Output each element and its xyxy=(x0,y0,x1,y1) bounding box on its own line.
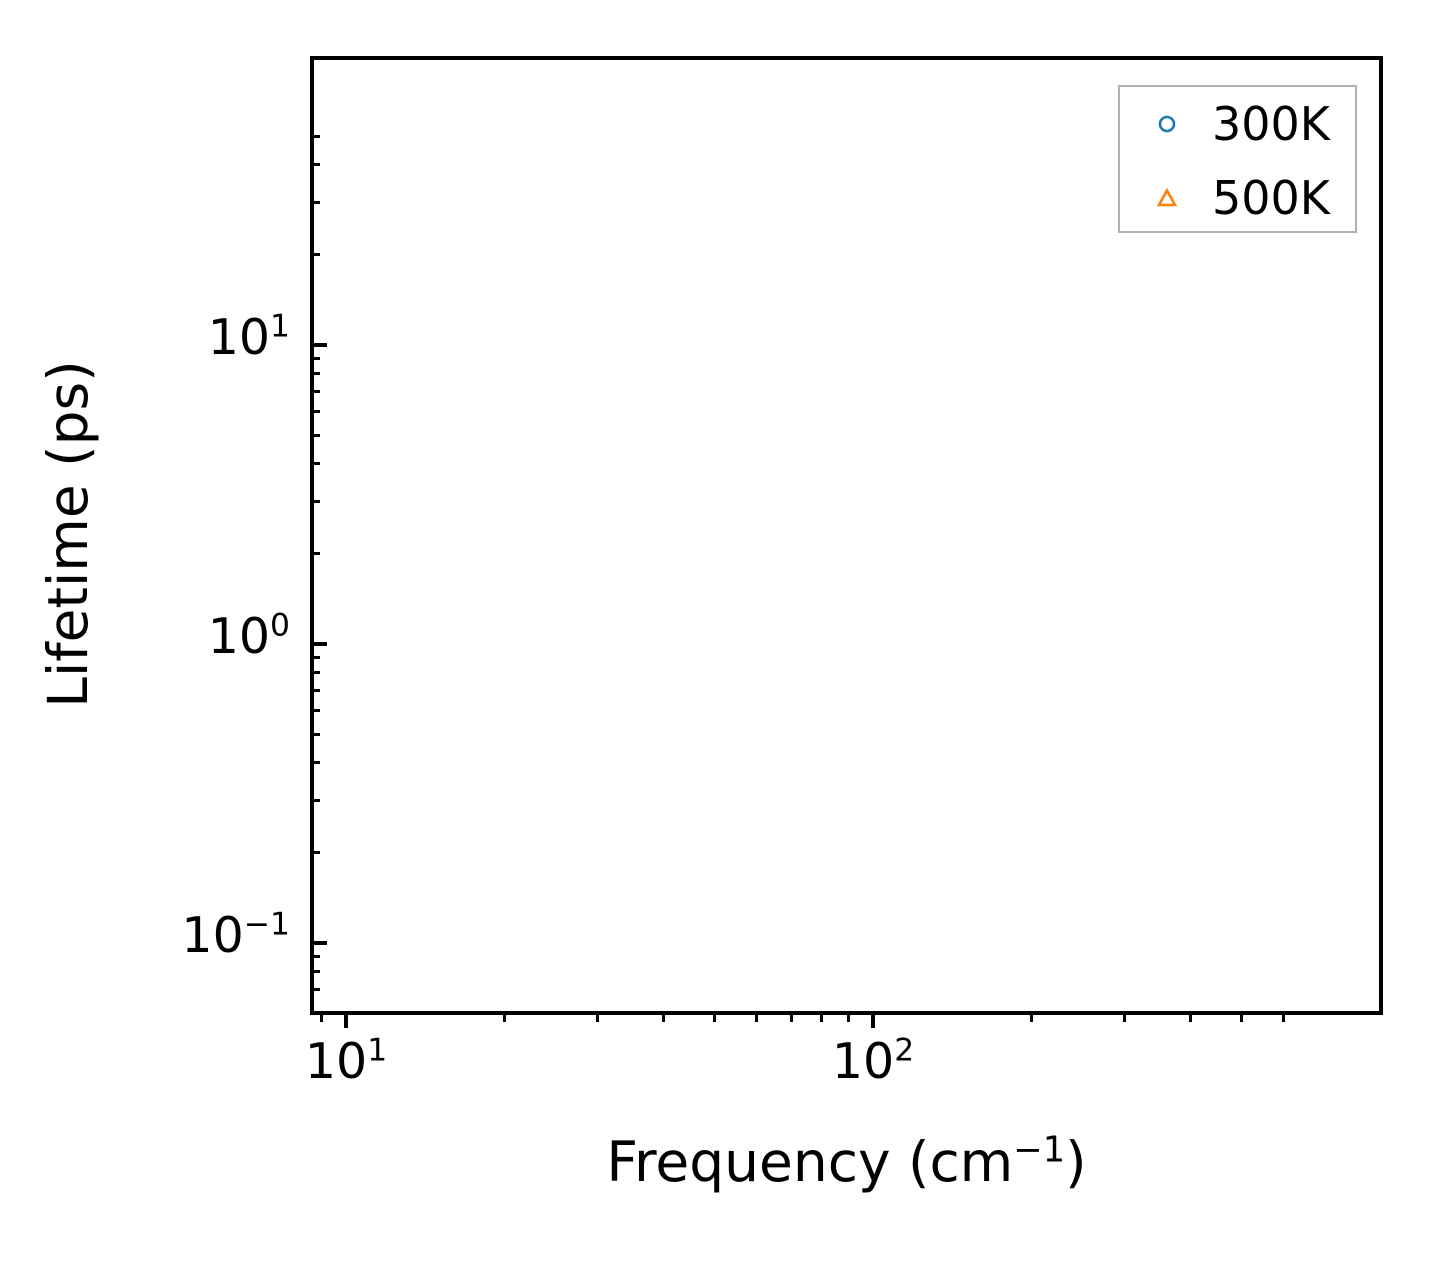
x-axis-title-exponent: −1 xyxy=(1013,1130,1065,1171)
y-tick-exponent: −1 xyxy=(244,907,290,943)
x-tick-mantissa: 10 xyxy=(832,1033,894,1090)
y-axis-minor-tick xyxy=(310,390,320,393)
y-axis-minor-tick xyxy=(310,709,320,712)
y-axis-minor-tick xyxy=(310,799,320,802)
x-tick-exponent: 1 xyxy=(367,1033,387,1069)
y-axis-minor-tick xyxy=(310,970,320,973)
x-axis-minor-tick xyxy=(1282,1012,1285,1022)
y-tick-mantissa: 10 xyxy=(181,907,243,964)
x-tick-label: 102 xyxy=(803,1037,943,1086)
x-axis-minor-tick xyxy=(713,1012,716,1022)
y-axis-title: Lifetime (ps) xyxy=(36,254,100,814)
y-axis-minor-tick xyxy=(310,733,320,736)
legend-marker-triangle-icon xyxy=(1156,187,1178,209)
x-axis-major-tick xyxy=(344,1011,348,1028)
y-axis-minor-tick xyxy=(310,357,320,360)
x-axis-minor-tick xyxy=(596,1012,599,1022)
y-axis-minor-tick xyxy=(310,135,320,138)
legend-label-300k: 300K xyxy=(1212,97,1330,151)
legend-entry-500k[interactable]: 500K xyxy=(1120,161,1359,235)
y-axis-minor-tick xyxy=(310,988,320,991)
y-tick-label: 10−1 xyxy=(0,911,290,960)
legend-entry-300k[interactable]: 300K xyxy=(1120,87,1359,161)
x-axis-minor-tick xyxy=(320,1012,323,1022)
x-axis-minor-tick xyxy=(1240,1012,1243,1022)
y-axis-minor-tick xyxy=(310,500,320,503)
y-axis-minor-tick xyxy=(310,462,320,465)
y-axis-minor-tick xyxy=(310,761,320,764)
x-axis-minor-tick xyxy=(1189,1012,1192,1022)
y-axis-minor-tick xyxy=(310,689,320,692)
x-axis-minor-tick xyxy=(820,1012,823,1022)
y-tick-mantissa: 10 xyxy=(208,608,270,665)
y-tick-exponent: 1 xyxy=(270,309,290,345)
x-tick-mantissa: 10 xyxy=(305,1033,367,1090)
x-axis-minor-tick xyxy=(1030,1012,1033,1022)
x-axis-minor-tick xyxy=(503,1012,506,1022)
y-axis-minor-tick xyxy=(310,410,320,413)
x-axis-minor-tick xyxy=(790,1012,793,1022)
x-axis-minor-tick xyxy=(1123,1012,1126,1022)
legend-marker-circle-icon xyxy=(1156,113,1178,135)
y-axis-minor-tick xyxy=(310,434,320,437)
x-tick-exponent: 2 xyxy=(894,1033,914,1069)
x-axis-minor-tick xyxy=(662,1012,665,1022)
y-axis-minor-tick xyxy=(310,372,320,375)
x-tick-label: 101 xyxy=(276,1037,416,1086)
y-axis-major-tick xyxy=(310,642,327,646)
y-axis-major-tick xyxy=(310,941,327,945)
y-axis-minor-tick xyxy=(310,955,320,958)
legend: 300K 500K xyxy=(1118,85,1357,233)
y-axis-major-tick xyxy=(310,343,327,347)
y-tick-exponent: 0 xyxy=(270,608,290,644)
x-axis-major-tick xyxy=(871,1011,875,1028)
y-axis-minor-tick xyxy=(310,656,320,659)
x-axis-title-prefix: Frequency (cm xyxy=(606,1130,1013,1194)
y-tick-mantissa: 10 xyxy=(208,309,270,366)
y-axis-minor-tick xyxy=(310,851,320,854)
x-axis-minor-tick xyxy=(847,1012,850,1022)
legend-label-500k: 500K xyxy=(1212,171,1330,225)
y-axis-minor-tick xyxy=(310,201,320,204)
x-axis-title-suffix: ) xyxy=(1065,1130,1086,1194)
y-axis-minor-tick xyxy=(310,671,320,674)
y-axis-minor-tick xyxy=(310,552,320,555)
y-axis-minor-tick xyxy=(310,253,320,256)
x-axis-title: Frequency (cm−1) xyxy=(310,1130,1383,1194)
x-axis-minor-tick xyxy=(755,1012,758,1022)
y-axis-minor-tick xyxy=(310,163,320,166)
figure-canvas: 101102 10110010−1 Frequency (cm−1) Lifet… xyxy=(0,0,1442,1265)
